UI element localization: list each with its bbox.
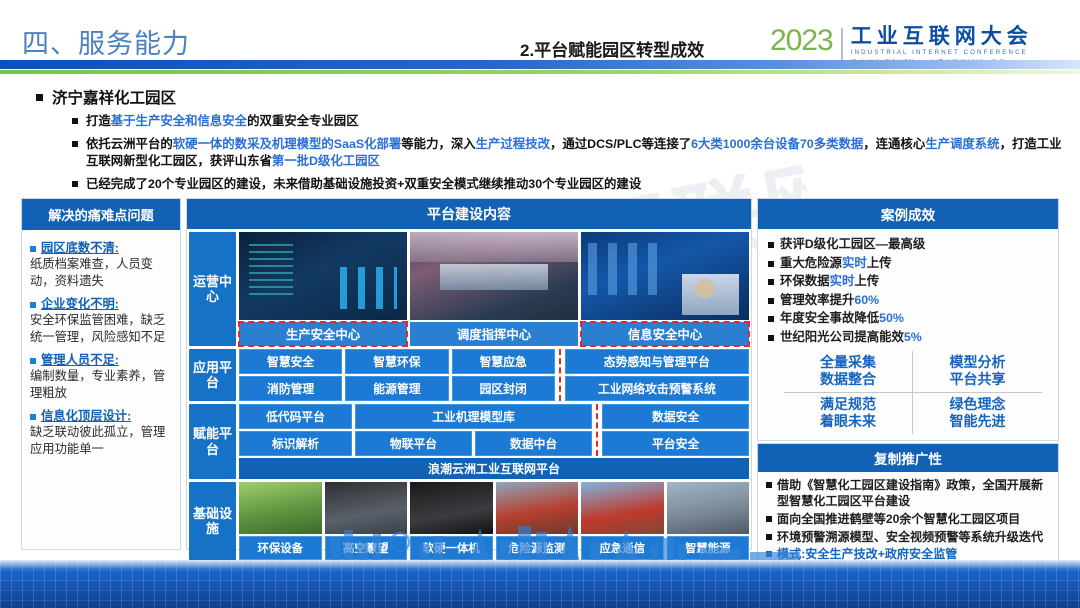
pain-point-head-text: 园区底数不清:	[41, 238, 119, 256]
application-module-button[interactable]: 消防管理	[239, 376, 342, 401]
page-title: 四、服务能力	[22, 22, 190, 61]
pain-point-desc: 纸质档案难查，人员变动，资料遗失	[30, 256, 173, 291]
highlighted-text: 6大类1000余台设备70多类数据	[691, 137, 863, 151]
plain-text: ，通过DCS/PLC等连接了	[550, 137, 691, 151]
value-quadrant-line1: 满足规范	[784, 396, 912, 414]
platform-content-panel: 平台建设内容 运营中心 生产安全中心调度指挥中心信息安全中心 应用平台 智慧安全…	[186, 198, 752, 550]
replication-text: 借助《智慧化工园区建设指南》政策，全国开展新型智慧化工园区平台建设	[777, 477, 1051, 510]
operation-center-cell[interactable]: 信息安全中心	[581, 232, 749, 346]
application-module-button[interactable]: 智慧安全	[239, 349, 342, 374]
application-module-button[interactable]: 态势感知与管理平台	[565, 349, 749, 374]
bullet-square-icon	[30, 246, 36, 252]
pain-point-desc: 安全环保监管困难，缺乏统一管理，风险感知不足	[30, 312, 173, 347]
application-platform-label-text: 应用平台	[189, 360, 236, 391]
bullet-level2-item: 打造基于生产安全和信息安全的双重安全专业园区	[72, 113, 1066, 131]
plain-text: 打造	[86, 114, 111, 128]
case-effect-title: 案例成效	[758, 199, 1058, 229]
bullet-square-icon	[768, 316, 774, 322]
infrastructure-label: 基础设施	[189, 482, 236, 560]
bullet-level2-text: 打造基于生产安全和信息安全的双重安全专业园区	[86, 113, 359, 131]
value-quadrant-line2: 着眼未来	[784, 413, 912, 431]
bullet-level2-text: 已经完成了20个专业园区的建设，未来借助基础设施投资+双重安全模式继续推动30个…	[86, 176, 641, 194]
value-quadrant-cell: 绿色理念智能先进	[913, 393, 1042, 434]
security-operator-image	[581, 232, 749, 320]
highlighted-text: 基于生产安全和信息安全	[111, 114, 247, 128]
bullet-square-icon	[30, 302, 36, 308]
case-effect-text: 世纪阳光公司提高能效5%	[780, 328, 922, 347]
bullet-level2-item: 依托云洲平台的软硬一体的数采及机理模型的SaaS化部署等能力，深入生产过程技改，…	[72, 136, 1066, 171]
pain-point-head: 管理人员不足:	[30, 350, 173, 368]
value-quadrant-line1: 绿色理念	[913, 396, 1042, 414]
application-module-button[interactable]: 工业网络攻击预警系统	[565, 376, 749, 401]
pain-point-desc: 缺乏联动彼此孤立，管理应用功能单一	[30, 424, 173, 459]
application-group: 智慧应急园区封闭	[452, 349, 555, 401]
enabling-module-button[interactable]: 数据安全	[602, 404, 749, 429]
enabling-right-column: 数据安全平台安全	[602, 404, 749, 456]
pain-point-head-text: 信息化顶层设计:	[41, 406, 131, 424]
bullet-level2-item: 已经完成了20个专业园区的建设，未来借助基础设施投资+双重安全模式继续推动30个…	[72, 176, 1066, 194]
value-quadrant-cell: 全量采集数据整合	[784, 351, 913, 393]
value-quadrant-cell: 模型分析平台共享	[913, 351, 1042, 393]
platform-content-title: 平台建设内容	[187, 199, 751, 229]
dashboard-screen-image	[239, 232, 407, 320]
value-quadrant-grid: 全量采集数据整合模型分析平台共享满足规范着眼未来绿色理念智能先进	[758, 349, 1058, 440]
results-panel: 案例成效 获评D级化工园区—最高级重大危险源实时上传环保数据实时上传管理效率提升…	[757, 198, 1059, 550]
bullet-square-icon	[768, 242, 774, 248]
bullet-square-icon	[72, 181, 78, 187]
enabling-module-button[interactable]: 工业机理模型库	[355, 404, 592, 429]
enabling-platform-label: 赋能平台	[189, 404, 236, 479]
application-group: 智慧安全消防管理	[239, 349, 342, 401]
footer-band	[0, 560, 1080, 608]
bullet-square-icon	[36, 94, 43, 101]
bullet-square-icon	[768, 335, 774, 341]
pain-point-item: 信息化顶层设计:缺乏联动彼此孤立，管理应用功能单一	[30, 406, 173, 459]
enabling-module-button[interactable]: 低代码平台	[239, 404, 352, 429]
logo-chinese-name: 工业互联网大会	[851, 26, 1033, 48]
header-divider-green	[0, 70, 1080, 74]
value-quadrant-line1: 全量采集	[784, 354, 912, 372]
application-group: 智慧环保能源管理	[345, 349, 448, 401]
application-module-button[interactable]: 园区封闭	[452, 376, 555, 401]
pain-points-list: 园区底数不清:纸质档案难查，人员变动，资料遗失企业变化不明:安全环保监管困难，缺…	[22, 230, 180, 459]
bullet-level1: 济宁嘉祥化工园区	[36, 86, 1066, 108]
replication-item: 借助《智慧化工园区建设指南》政策，全国开展新型智慧化工园区平台建设	[766, 477, 1051, 510]
plain-text: 依托云洲平台的	[86, 137, 173, 151]
enabling-module-button[interactable]: 数据中台	[475, 431, 592, 456]
highlighted-text: 实时	[830, 274, 855, 288]
logo-english-name: INDUSTRIAL INTERNET CONFERENCE	[851, 49, 1033, 56]
plain-text: 环保数据	[780, 274, 830, 288]
platform-bar: 浪潮云洲工业互联网平台	[239, 458, 749, 479]
operation-center-label: 运营中心	[189, 232, 236, 346]
header-divider-blue	[0, 60, 1080, 69]
plain-text: 等能力，深入	[401, 137, 475, 151]
pain-point-head: 企业变化不明:	[30, 294, 173, 312]
enabling-module-button[interactable]: 平台安全	[602, 431, 749, 456]
pain-point-item: 管理人员不足:编制数量，专业素养，管理粗放	[30, 350, 173, 403]
case-effect-item: 管理效率提升60%	[768, 291, 1050, 310]
pain-point-head: 园区底数不清:	[30, 238, 173, 256]
bullet-level2-list: 打造基于生产安全和信息安全的双重安全专业园区依托云洲平台的软硬一体的数采及机理模…	[36, 113, 1066, 193]
bullet-square-icon	[72, 118, 78, 124]
highlighted-text: 生产调度系统	[925, 137, 999, 151]
logo-year: 2023	[770, 26, 833, 56]
highlighted-text: 第一批D级化工园区	[272, 154, 380, 168]
pain-point-item: 园区底数不清:纸质档案难查，人员变动，资料遗失	[30, 238, 173, 291]
case-effect-text: 获评D级化工园区—最高级	[780, 235, 925, 254]
plain-text: 上传	[867, 256, 892, 270]
pain-point-head-text: 企业变化不明:	[41, 294, 119, 312]
application-module-button[interactable]: 智慧环保	[345, 349, 448, 374]
section-subtitle: 2.平台赋能园区转型成效	[520, 36, 704, 61]
application-platform-row: 应用平台 智慧安全消防管理智慧环保能源管理智慧应急园区封闭态势感知与管理平台工业…	[187, 349, 751, 401]
operation-center-cell[interactable]: 生产安全中心	[239, 232, 407, 346]
security-zone-divider	[559, 349, 561, 401]
pain-point-head: 信息化顶层设计:	[30, 406, 173, 424]
operation-center-caption[interactable]: 调度指挥中心	[410, 322, 578, 346]
highlighted-text: 生产过程技改	[476, 137, 550, 151]
highlighted-text: 实时	[842, 256, 867, 270]
case-effect-item: 获评D级化工园区—最高级	[768, 235, 1050, 254]
bullet-square-icon	[72, 141, 78, 147]
plain-text: 已经完成了20个专业园区的建设，未来借助基础设施投资+双重安全模式继续推动30个…	[86, 177, 641, 191]
highlighted-text: 5%	[904, 330, 922, 344]
case-effect-box: 案例成效 获评D级化工园区—最高级重大危险源实时上传环保数据实时上传管理效率提升…	[757, 198, 1059, 441]
plain-text: 上传	[854, 274, 879, 288]
bullet-level2-text: 依托云洲平台的软硬一体的数采及机理模型的SaaS化部署等能力，深入生产过程技改，…	[86, 136, 1066, 171]
operation-center-caption[interactable]: 信息安全中心	[581, 322, 749, 346]
case-effect-text: 重大危险源实时上传	[780, 254, 892, 273]
pain-points-panel: 解决的痛难点问题 园区底数不清:纸质档案难查，人员变动，资料遗失企业变化不明:安…	[21, 198, 181, 550]
application-module-button[interactable]: 能源管理	[345, 376, 448, 401]
operation-center-cell[interactable]: 调度指挥中心	[410, 232, 578, 346]
enabling-module-button[interactable]: 物联平台	[355, 431, 472, 456]
replication-title: 复制推广性	[758, 444, 1058, 472]
bullet-square-icon	[768, 298, 774, 304]
infrastructure-label-text: 基础设施	[189, 506, 236, 537]
value-quadrant-line1: 模型分析	[913, 354, 1042, 372]
application-right-group: 态势感知与管理平台工业网络攻击预警系统	[565, 349, 749, 401]
value-quadrant-cell: 满足规范着眼未来	[784, 393, 913, 434]
bullet-square-icon	[768, 279, 774, 285]
application-left-groups: 智慧安全消防管理智慧环保能源管理智慧应急园区封闭	[239, 349, 555, 401]
control-hall-image	[410, 232, 578, 320]
plain-text: 管理效率提升	[780, 293, 854, 307]
pain-points-title: 解决的痛难点问题	[22, 199, 180, 230]
pain-point-item: 企业变化不明:安全环保监管困难，缺乏统一管理，风险感知不足	[30, 294, 173, 347]
bullet-level1-text: 济宁嘉祥化工园区	[52, 86, 176, 108]
bullet-block: 济宁嘉祥化工园区 打造基于生产安全和信息安全的双重安全专业园区依托云洲平台的软硬…	[36, 86, 1066, 193]
enabling-middle-column: 工业机理模型库物联平台数据中台	[355, 404, 592, 456]
operation-center-row: 运营中心 生产安全中心调度指挥中心信息安全中心	[187, 232, 751, 346]
case-effect-text: 年度安全事故降低50%	[780, 309, 904, 328]
value-quadrant-line2: 平台共享	[913, 371, 1042, 389]
case-effect-item: 环保数据实时上传	[768, 272, 1050, 291]
pain-point-desc: 编制数量，专业素养，管理粗放	[30, 368, 173, 403]
enabling-platform-label-text: 赋能平台	[189, 426, 236, 457]
bullet-square-icon	[30, 358, 36, 364]
highlighted-text: 50%	[879, 311, 904, 325]
case-effect-list: 获评D级化工园区—最高级重大危险源实时上传环保数据实时上传管理效率提升60%年度…	[758, 229, 1058, 349]
value-quadrant-line2: 数据整合	[784, 371, 912, 389]
bullet-square-icon	[768, 261, 774, 267]
enabling-left-column: 低代码平台标识解析	[239, 404, 352, 456]
case-effect-text: 管理效率提升60%	[780, 291, 879, 310]
plain-text: 年度安全事故降低	[780, 311, 879, 325]
plain-text: 世纪阳光公司提高能效	[780, 330, 904, 344]
highlighted-text: 60%	[854, 293, 879, 307]
bullet-square-icon	[766, 482, 772, 488]
enabling-module-button[interactable]: 标识解析	[239, 431, 352, 456]
application-module-button[interactable]: 智慧应急	[452, 349, 555, 374]
application-platform-label: 应用平台	[189, 349, 236, 401]
pain-point-head-text: 管理人员不足:	[41, 350, 119, 368]
case-effect-item: 年度安全事故降低50%	[768, 309, 1050, 328]
operation-center-caption[interactable]: 生产安全中心	[239, 322, 407, 346]
case-effect-text: 环保数据实时上传	[780, 272, 879, 291]
plain-text: 重大危险源	[780, 256, 842, 270]
operation-center-label-text: 运营中心	[189, 274, 236, 305]
value-quadrant-line2: 智能先进	[913, 413, 1042, 431]
plain-text: ，连通核心	[863, 137, 925, 151]
bullet-square-icon	[30, 414, 36, 420]
plain-text: 获评D级化工园区—最高级	[780, 237, 925, 251]
enabling-platform-row: 赋能平台 低代码平台标识解析工业机理模型库物联平台数据中台数据安全平台安全 浪潮…	[187, 404, 751, 479]
security-zone-divider	[596, 404, 598, 456]
case-effect-item: 世纪阳光公司提高能效5%	[768, 328, 1050, 347]
plain-text: 的双重安全专业园区	[247, 114, 359, 128]
highlighted-text: 软硬一体的数采及机理模型的SaaS化部署	[173, 137, 402, 151]
case-effect-item: 重大危险源实时上传	[768, 254, 1050, 273]
city-skyline-decoration	[270, 522, 830, 562]
